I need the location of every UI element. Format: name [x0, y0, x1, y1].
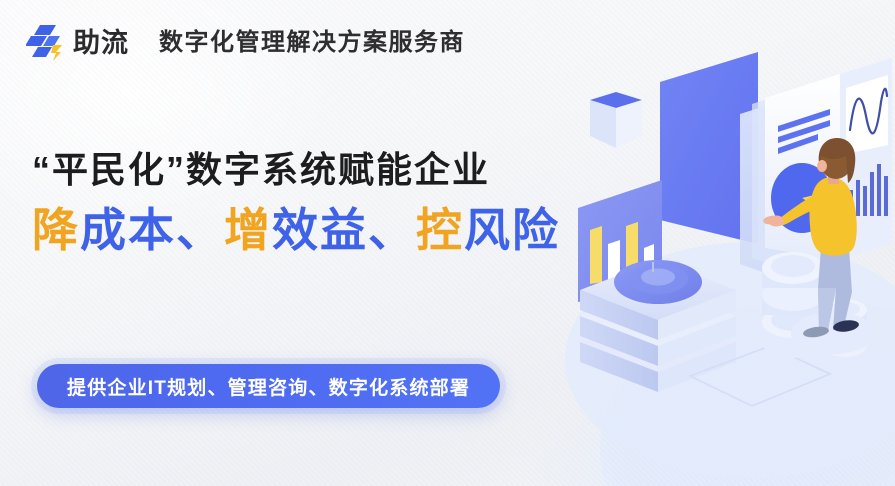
headline-line-1: “平民化”数字系统赋能企业	[32, 148, 560, 192]
headline-seg-3: 增	[224, 204, 272, 256]
headline-seg-1: 降	[32, 204, 80, 256]
small-isometric-column	[590, 92, 642, 148]
headline-line-2: 降成本、增效益、控风险	[32, 204, 560, 257]
logo-wordmark: 助流	[73, 30, 129, 57]
headline-seg-2: 成本、	[80, 204, 224, 256]
isometric-data-dashboard-illustration	[540, 30, 895, 486]
flag-marker	[652, 262, 654, 272]
header-tagline: 数字化管理解决方案服务商	[159, 31, 465, 55]
headline-seg-4: 效益、	[272, 204, 416, 256]
headline-seg-6: 风险	[464, 204, 560, 256]
services-cta-button[interactable]: 提供企业IT规划、管理咨询、数字化系统部署	[37, 364, 500, 408]
brand-header: 助流 数字化管理解决方案服务商	[26, 24, 465, 62]
promo-banner: 助流 数字化管理解决方案服务商 “平民化”数字系统赋能企业 降成本、增效益、控风…	[0, 0, 895, 486]
zhuliu-lightning-logo-icon	[26, 24, 66, 62]
services-cta-label: 提供企业IT规划、管理咨询、数字化系统部署	[67, 373, 470, 400]
headline-block: “平民化”数字系统赋能企业 降成本、增效益、控风险	[32, 148, 560, 257]
headline-seg-5: 控	[416, 204, 464, 256]
